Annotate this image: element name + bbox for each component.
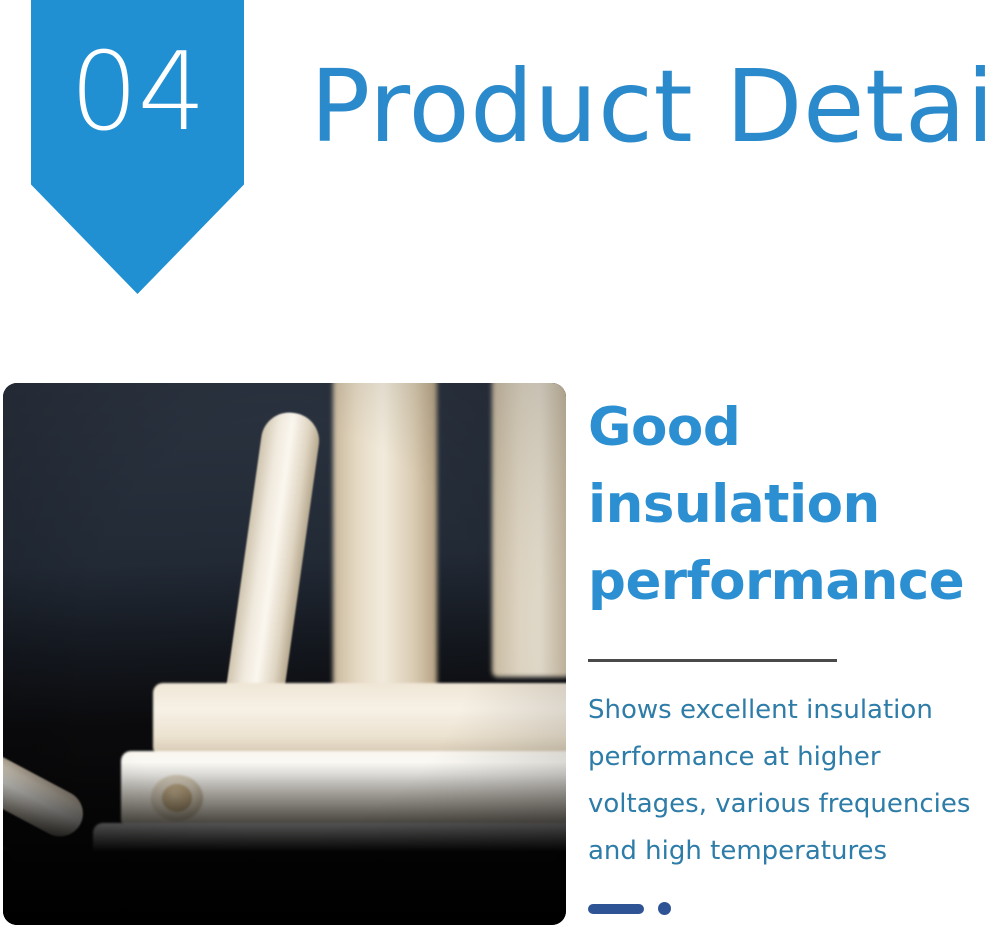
content-area: Good insulation performance Shows excell… <box>0 383 1000 933</box>
ceramic-roller-back-3 <box>492 383 566 677</box>
product-details-page: 04 Product Details <box>0 0 1000 933</box>
feature-text-column: Good insulation performance Shows excell… <box>588 383 988 933</box>
feature-heading-line-3: performance <box>588 543 988 620</box>
pagination-dot-2[interactable] <box>658 902 671 915</box>
photo-bottom-shadow <box>3 762 566 925</box>
feature-heading-line-2: insulation <box>588 466 988 543</box>
feature-description: Shows excellent insulation performance a… <box>588 687 1000 875</box>
product-photo <box>3 383 566 925</box>
feature-heading: Good insulation performance <box>588 389 988 620</box>
carousel-pagination[interactable] <box>588 902 988 915</box>
section-number-badge: 04 <box>31 0 244 294</box>
ceramic-bar-1 <box>153 683 566 757</box>
ceramic-roller-back-1 <box>333 383 437 701</box>
badge-number-label: 04 <box>31 0 244 188</box>
pagination-dot-active[interactable] <box>588 904 644 914</box>
feature-heading-line-1: Good <box>588 389 988 466</box>
page-header: 04 Product Details <box>0 0 1000 330</box>
heading-divider <box>588 659 837 662</box>
page-title: Product Details <box>310 52 1000 162</box>
